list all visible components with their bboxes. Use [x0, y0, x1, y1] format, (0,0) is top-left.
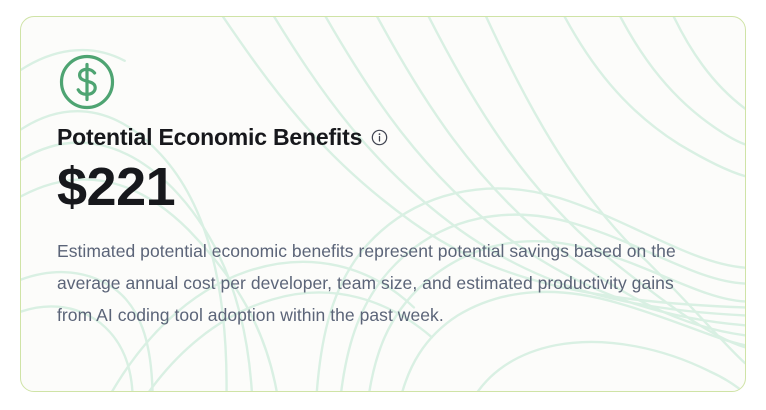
info-icon[interactable] — [371, 129, 388, 146]
card-content: Potential Economic Benefits $221 Estimat… — [21, 17, 745, 331]
page-title: Potential Economic Benefits — [57, 125, 362, 150]
metric-value: $221 — [57, 156, 709, 218]
potential-economic-benefits-card: Potential Economic Benefits $221 Estimat… — [20, 16, 746, 392]
dollar-circle-icon — [58, 53, 116, 111]
card-title-row: Potential Economic Benefits — [57, 125, 709, 150]
metric-description: Estimated potential economic benefits re… — [57, 236, 705, 332]
screen: Potential Economic Benefits $221 Estimat… — [0, 0, 766, 410]
